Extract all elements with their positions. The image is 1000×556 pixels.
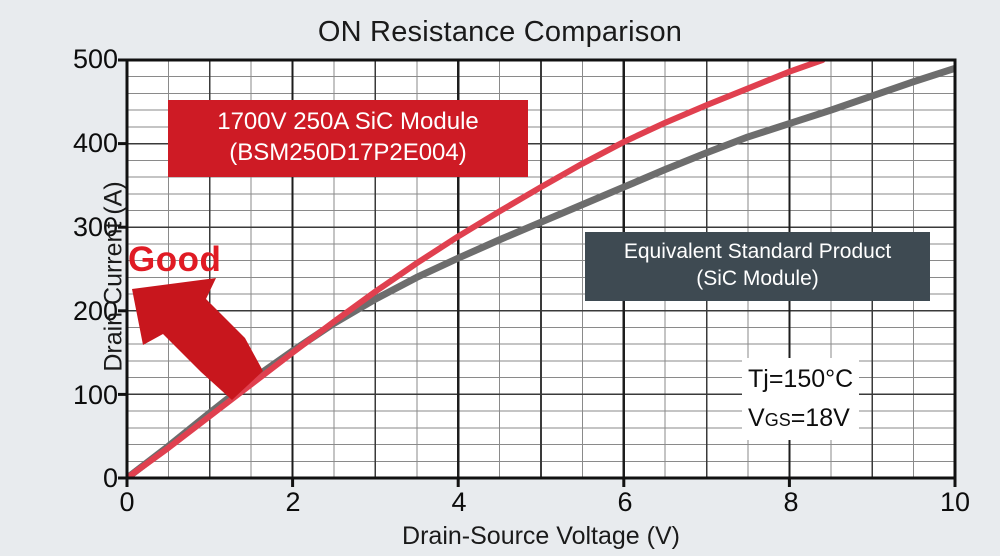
good-label: Good [128,240,221,280]
callout-sic-module-line2: (BSM250D17P2E004) [178,138,518,169]
test-conditions: Tj=150°C VGS=18V [742,358,859,440]
condition-vgs-value: =18V [791,404,850,432]
callout-equivalent-standard: Equivalent Standard Product (SiC Module) [585,232,930,301]
callout-sic-module-line1: 1700V 250A SiC Module [178,107,518,138]
callout-equivalent-standard-line1: Equivalent Standard Product [593,238,922,265]
condition-junction-temperature: Tj=150°C [748,360,853,399]
condition-vgs-v: V [748,404,765,432]
chart-canvas: ON Resistance Comparison 500 400 300 200… [0,0,1000,556]
callout-equivalent-standard-line2: (SiC Module) [593,265,922,292]
condition-gate-source-voltage: VGS=18V [748,399,853,438]
condition-tj-text: Tj=150°C [748,365,853,393]
condition-vgs-subscript: GS [765,410,791,430]
callout-sic-module: 1700V 250A SiC Module (BSM250D17P2E004) [168,100,528,177]
